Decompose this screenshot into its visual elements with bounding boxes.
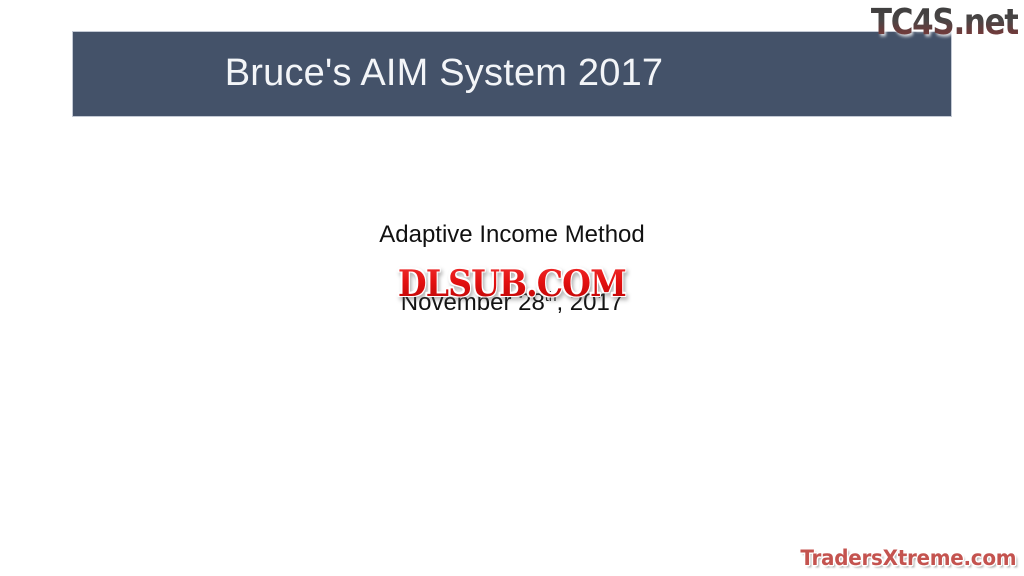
slide-canvas: Bruce's AIM System 2017 Adaptive Income … bbox=[0, 0, 1024, 576]
tradersxtreme-watermark: TradersXtreme.com bbox=[789, 546, 1016, 570]
date-month-day: November 28 bbox=[401, 289, 545, 316]
tradersxtreme-watermark-text: TradersXtreme.com bbox=[800, 546, 1016, 570]
body-line-spacer bbox=[0, 252, 1024, 286]
date-year: , 2017 bbox=[556, 289, 623, 316]
title-bar: Bruce's AIM System 2017 bbox=[72, 31, 952, 117]
slide-body: Adaptive Income Method November 28th, 20… bbox=[0, 218, 1024, 320]
slide-title: Bruce's AIM System 2017 bbox=[225, 53, 663, 95]
date-ordinal-suffix: th bbox=[545, 288, 557, 304]
body-line-date: November 28th, 2017 bbox=[0, 286, 1024, 320]
body-line-subtitle: Adaptive Income Method bbox=[0, 218, 1024, 252]
